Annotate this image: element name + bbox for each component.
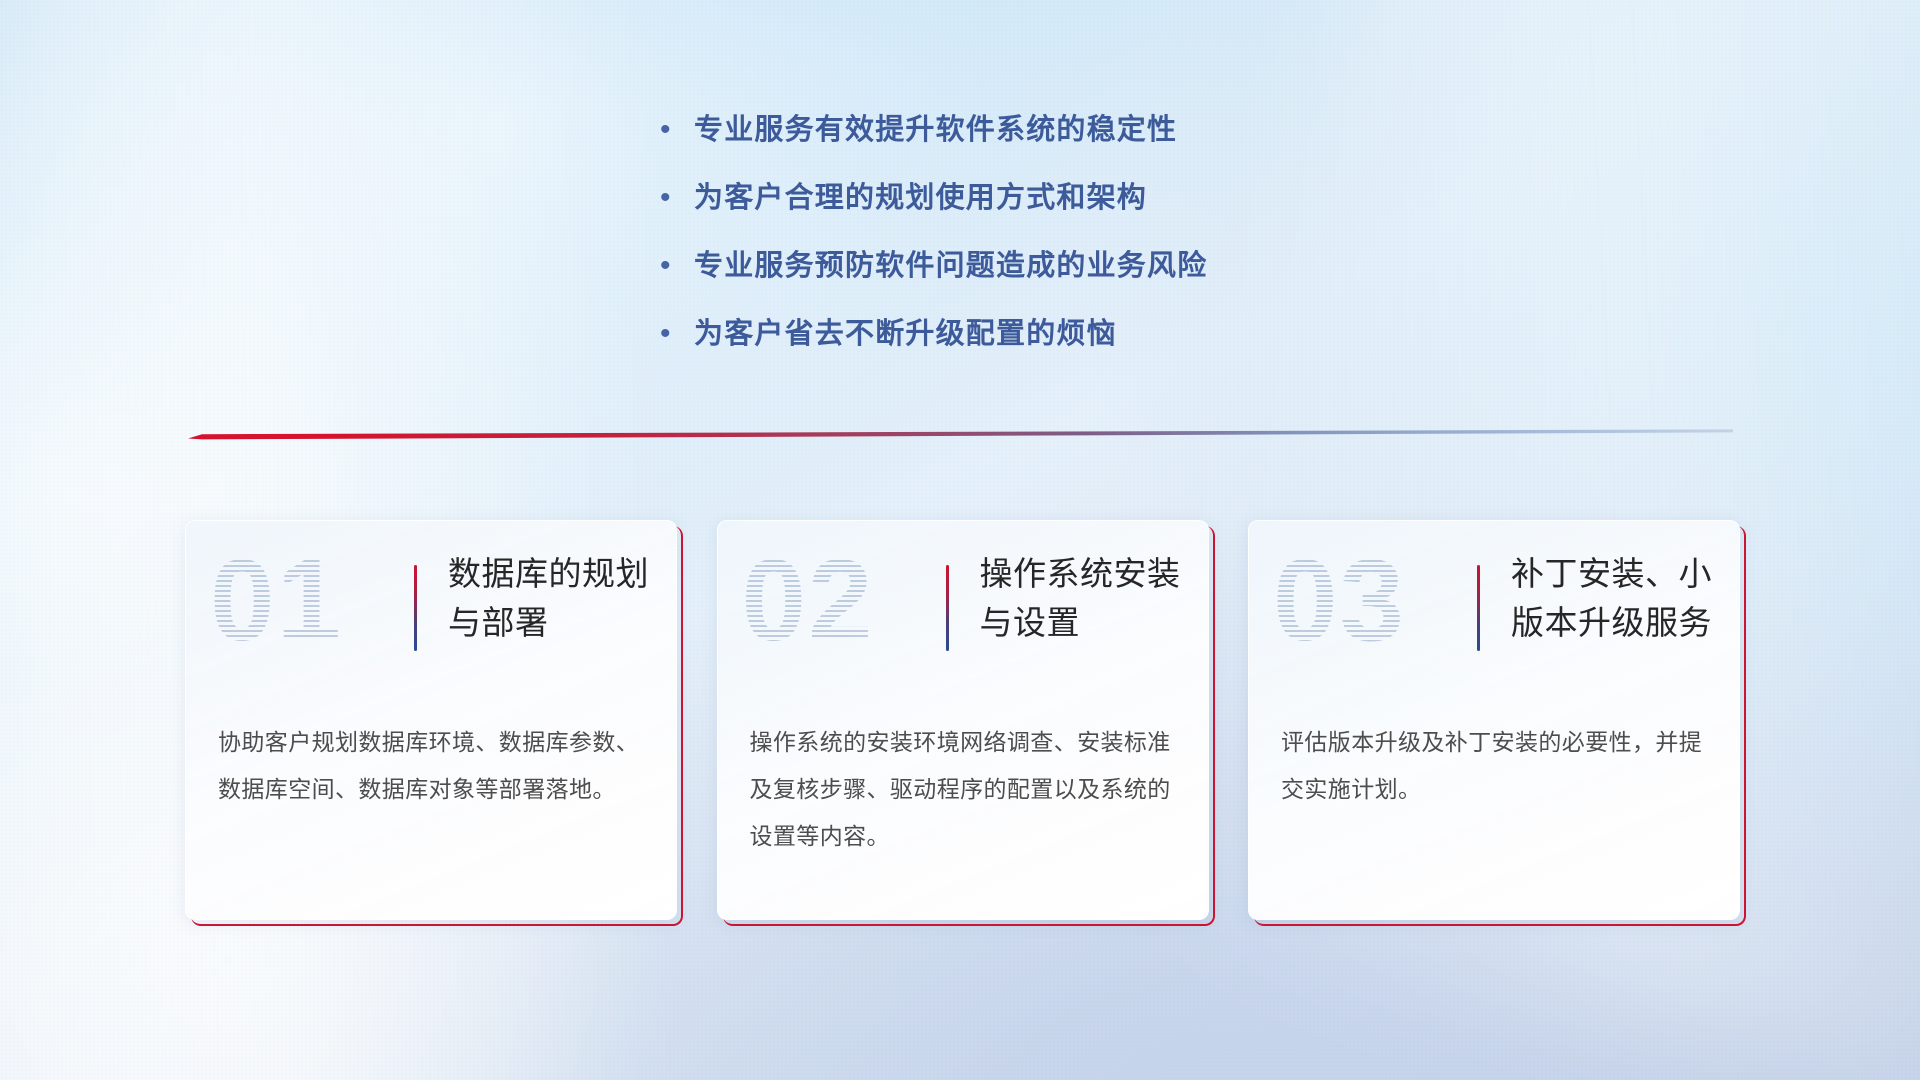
bullet-text: 为客户省去不断升级配置的烦恼 [694, 314, 1117, 354]
bullet-text: 为客户合理的规划使用方式和架构 [694, 178, 1147, 218]
card-header: 01 数据库的规划与部署 [186, 521, 676, 696]
bullet-text: 专业服务预防软件问题造成的业务风险 [694, 246, 1207, 286]
service-card[interactable]: 02 操作系统安装与设置 操作系统的安装环境网络调查、安装标准及复核步骤、驱动程… [717, 520, 1209, 920]
card-title-rule [1477, 565, 1480, 651]
card-title: 数据库的规划与部署 [448, 549, 660, 647]
bullet-item: • 专业服务有效提升软件系统的稳定性 [660, 110, 1460, 150]
bullet-text: 专业服务有效提升软件系统的稳定性 [694, 110, 1177, 150]
card-number-watermark: 02 [742, 535, 922, 665]
divider-shape [188, 428, 1733, 444]
card-title-rule [414, 565, 417, 651]
bullet-item: • 为客户省去不断升级配置的烦恼 [660, 314, 1460, 354]
card-description: 操作系统的安装环境网络调查、安装标准及复核步骤、驱动程序的配置以及系统的设置等内… [750, 719, 1174, 860]
card-surface: 01 数据库的规划与部署 协助客户规划数据库环境、数据库参数、数据库空间、数据库… [185, 520, 677, 920]
card-surface: 03 补丁安装、小版本升级服务 评估版本升级及补丁安装的必要性，并提交实施计划。 [1248, 520, 1740, 920]
bullet-marker-icon: • [660, 314, 694, 354]
card-surface: 02 操作系统安装与设置 操作系统的安装环境网络调查、安装标准及复核步骤、驱动程… [717, 520, 1209, 920]
service-card[interactable]: 01 数据库的规划与部署 协助客户规划数据库环境、数据库参数、数据库空间、数据库… [185, 520, 677, 920]
card-header: 03 补丁安装、小版本升级服务 [1249, 521, 1739, 696]
card-description: 协助客户规划数据库环境、数据库参数、数据库空间、数据库对象等部署落地。 [218, 719, 642, 813]
bullet-item: • 专业服务预防软件问题造成的业务风险 [660, 246, 1460, 286]
bullet-marker-icon: • [660, 178, 694, 218]
bullet-marker-icon: • [660, 246, 694, 286]
card-header: 02 操作系统安装与设置 [718, 521, 1208, 696]
service-card[interactable]: 03 补丁安装、小版本升级服务 评估版本升级及补丁安装的必要性，并提交实施计划。 [1248, 520, 1740, 920]
benefits-bullet-list: • 专业服务有效提升软件系统的稳定性 • 为客户合理的规划使用方式和架构 • 专… [660, 110, 1460, 382]
card-title-rule [946, 565, 949, 651]
card-title: 操作系统安装与设置 [980, 549, 1192, 647]
slide-canvas: • 专业服务有效提升软件系统的稳定性 • 为客户合理的规划使用方式和架构 • 专… [0, 0, 1920, 1080]
bullet-item: • 为客户合理的规划使用方式和架构 [660, 178, 1460, 218]
card-number-watermark: 03 [1273, 535, 1453, 665]
service-card-list: 01 数据库的规划与部署 协助客户规划数据库环境、数据库参数、数据库空间、数据库… [185, 520, 1740, 920]
card-number-watermark: 01 [210, 535, 390, 665]
bullet-marker-icon: • [660, 110, 694, 150]
section-divider [188, 428, 1733, 444]
card-title: 补丁安装、小版本升级服务 [1511, 549, 1723, 647]
card-description: 评估版本升级及补丁安装的必要性，并提交实施计划。 [1281, 719, 1705, 813]
